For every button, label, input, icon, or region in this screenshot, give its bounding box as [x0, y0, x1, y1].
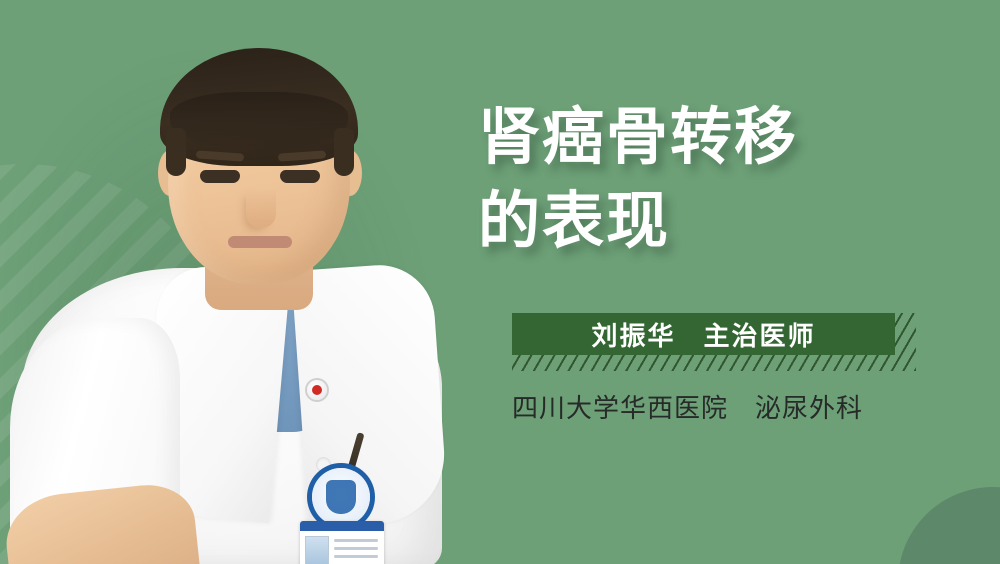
eye-left	[200, 170, 240, 183]
sideburn-right	[334, 128, 354, 176]
id-card-header-strip	[300, 521, 384, 531]
lab-coat-button	[317, 458, 330, 471]
poster-title: 肾癌骨转移 的表现	[478, 96, 948, 265]
mouth	[228, 236, 292, 248]
solid-circle-decoration	[898, 487, 1000, 564]
hospital-emblem-badge-icon	[312, 468, 370, 526]
nose	[246, 188, 276, 228]
video-thumbnail-poster: 肾癌骨转移 的表现 刘振华 主治医师 四川大学华西医院 泌尿外科	[0, 0, 1000, 564]
doctor-portrait	[0, 0, 470, 564]
id-card-line	[334, 539, 378, 542]
id-card-text-lines	[334, 539, 378, 563]
lapel-pin-icon	[307, 380, 327, 400]
id-card-line	[334, 547, 378, 550]
sideburn-left	[166, 128, 186, 176]
eye-right	[280, 170, 320, 183]
speaker-affiliation: 四川大学华西医院 泌尿外科	[512, 388, 932, 425]
embroidered-name-text	[331, 398, 378, 423]
speaker-name-bar: 刘振华 主治医师	[512, 313, 895, 355]
staff-id-card	[300, 521, 384, 564]
id-card-line	[334, 555, 378, 558]
speaker-name-and-rank: 刘振华 主治医师	[591, 316, 815, 353]
id-card-photo	[305, 536, 329, 564]
speaker-name-bar-group: 刘振华 主治医师	[512, 313, 916, 371]
